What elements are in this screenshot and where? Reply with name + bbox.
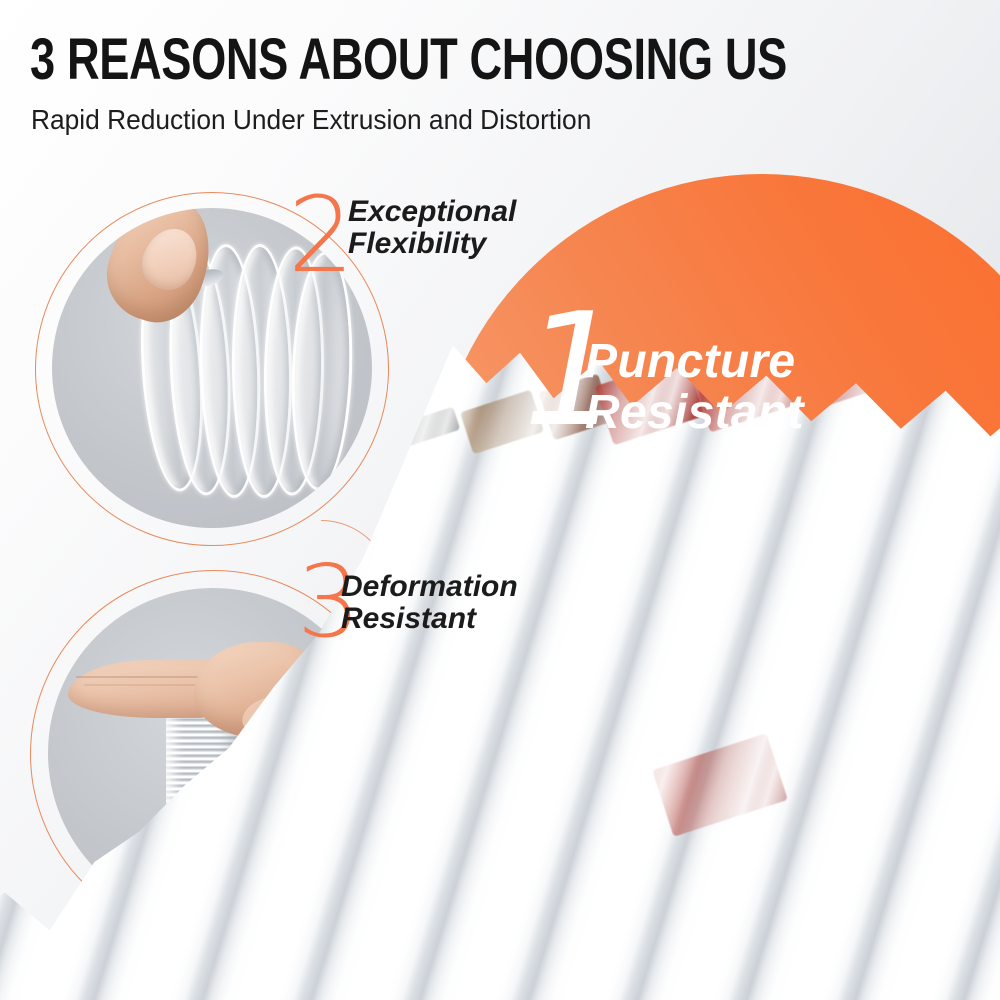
reason-2-number: 2 (288, 183, 354, 287)
reason-2-label: Exceptional Flexibility (348, 196, 516, 260)
page-title: 3 REASONS ABOUT CHOOSING US (30, 31, 787, 89)
reason-3-label: Deformation Resistant (341, 571, 518, 635)
reason-1-label: Puncture Resistant (585, 337, 804, 439)
finger-icon (90, 208, 220, 352)
page-subtitle: Rapid Reduction Under Extrusion and Dist… (31, 104, 591, 136)
promo-banner: 3 REASONS ABOUT CHOOSING US Rapid Reduct… (0, 0, 1000, 1000)
